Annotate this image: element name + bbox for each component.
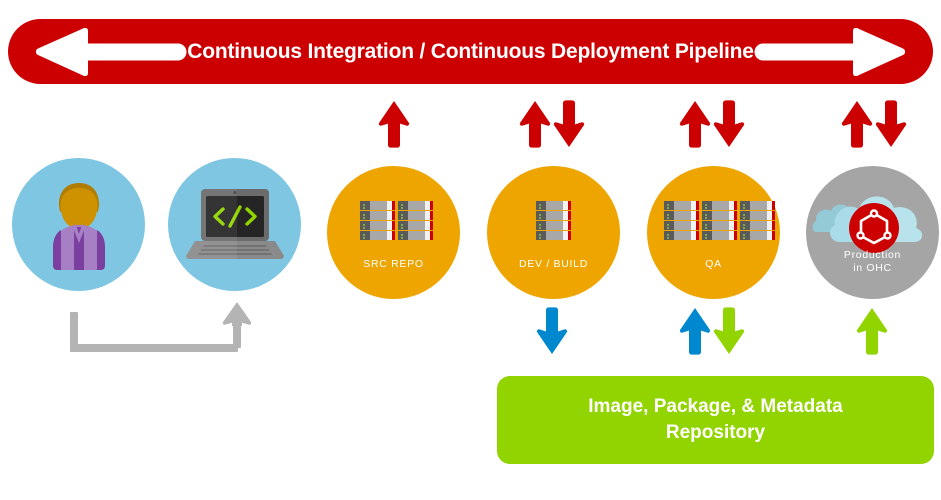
- arrow-src-repo-up: [377, 100, 411, 148]
- node-workstation: [168, 158, 301, 291]
- cicd-pipeline-banner: Continuous Integration / Continuous Depl…: [8, 19, 933, 84]
- arrow-qa-from-repo: [678, 307, 712, 355]
- server-rack-icon: [664, 201, 775, 240]
- node-label-production-line2: in OHC: [806, 262, 939, 275]
- node-dev-build: DEV / BUILD: [487, 166, 620, 299]
- arrow-qa-up: [678, 100, 712, 148]
- node-label-qa: QA: [647, 258, 780, 271]
- repository-label-line1: Image, Package, & Metadata: [588, 394, 843, 420]
- laptop-code-icon: [185, 189, 285, 261]
- node-label-dev-build: DEV / BUILD: [487, 258, 620, 271]
- node-developer: [12, 158, 145, 291]
- arrow-right-icon: [749, 28, 909, 76]
- node-src-repo: SRC REPO: [327, 166, 460, 299]
- arrow-dev-build-to-repo: [535, 307, 569, 355]
- arrow-dev-build-down: [552, 100, 586, 148]
- arrow-qa-down: [712, 100, 746, 148]
- repository-label-line2: Repository: [588, 420, 843, 446]
- cicd-pipeline-diagram: Continuous Integration / Continuous Depl…: [0, 0, 941, 500]
- node-qa: QA: [647, 166, 780, 299]
- arrow-qa-to-repo: [712, 307, 746, 355]
- node-label-production-line1: Production: [806, 249, 939, 262]
- server-rack-icon: [360, 201, 433, 240]
- repository-label: Image, Package, & Metadata Repository: [588, 394, 843, 446]
- image-package-metadata-repository-box: Image, Package, & Metadata Repository: [497, 376, 934, 464]
- node-production: Production in OHC: [806, 166, 939, 299]
- arrow-production-down: [874, 100, 908, 148]
- arrow-production-from-repo: [855, 307, 889, 355]
- person-icon: [45, 181, 113, 271]
- arrow-dev-build-up: [518, 100, 552, 148]
- developer-to-workstation-connector-line: [62, 300, 252, 356]
- node-label-src-repo: SRC REPO: [327, 258, 460, 271]
- arrow-production-up: [840, 100, 874, 148]
- server-rack-icon: [536, 201, 571, 240]
